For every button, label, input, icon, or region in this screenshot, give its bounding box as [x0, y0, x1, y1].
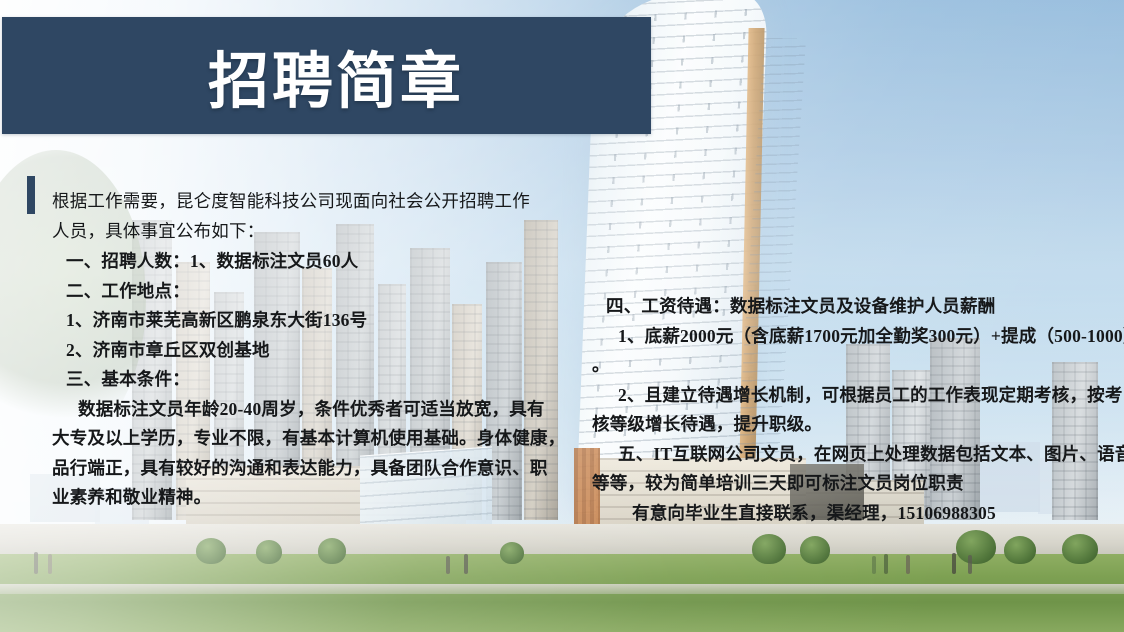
street-tree — [500, 542, 524, 564]
street-tree — [196, 538, 226, 564]
body-line: 核等级增长待遇，提升职级。 — [592, 410, 1100, 440]
body-line: 根据工作需要，昆仑度智能科技公司现面向社会公开招聘工作 — [52, 188, 557, 218]
pedestrian — [884, 554, 888, 574]
body-line: 2、且建立待遇增长机制，可根据员工的工作表现定期考核，按考 — [592, 381, 1100, 411]
pedestrian — [906, 555, 910, 574]
body-line: 1、底薪2000元（含底薪1700元加全勤奖300元）+提成（500-1000） — [592, 322, 1100, 352]
body-line: 二、工作地点： — [52, 277, 557, 307]
street-tree — [800, 536, 830, 564]
paragraph-accent-bar — [27, 176, 35, 214]
body-line: 。 — [592, 351, 1100, 381]
pedestrian — [34, 552, 38, 574]
street-tree — [256, 540, 282, 564]
body-line: 业素养和敬业精神。 — [52, 483, 557, 513]
pedestrian — [464, 554, 468, 574]
contact-line: 有意向毕业生直接联系，渠经理，15106988305 — [592, 499, 1100, 529]
body-line: 三、基本条件： — [52, 365, 557, 395]
body-line: 数据标注文员年龄20-40周岁，条件优秀者可适当放宽，具有 — [52, 395, 557, 425]
body-line: 五、IT互联网公司文员，在网页上处理数据包括文本、图片、语音 — [592, 440, 1100, 470]
body-line: 一、招聘人数：1、数据标注文员60人 — [52, 247, 557, 277]
street-tree — [318, 538, 346, 564]
pedestrian — [446, 556, 450, 574]
street-tree — [1004, 536, 1036, 564]
left-text-column: 根据工作需要，昆仑度智能科技公司现面向社会公开招聘工作 人员，具体事宜公布如下：… — [52, 188, 557, 513]
body-line: 品行端正，具有较好的沟通和表达能力，具备团队合作意识、职 — [52, 454, 557, 484]
street-tree — [752, 534, 786, 564]
right-text-column: 四、工资待遇：数据标注文员及设备维护人员薪酬 1、底薪2000元（含底薪1700… — [592, 292, 1100, 528]
body-line: 大专及以上学历，专业不限，有基本计算机使用基础。身体健康， — [52, 424, 557, 454]
pedestrian — [952, 553, 956, 574]
pedestrian — [48, 554, 52, 574]
street-tree — [1062, 534, 1098, 564]
body-line: 2、济南市章丘区双创基地 — [52, 336, 557, 366]
body-line: 人员，具体事宜公布如下： — [52, 218, 557, 248]
body-line: 1、济南市莱芜高新区鹏泉东大街136号 — [52, 306, 557, 336]
street-tree — [956, 530, 996, 564]
body-line: 等等，较为简单培训三天即可标注文员岗位职责 — [592, 469, 1100, 499]
title-banner: 招聘简章 — [2, 17, 651, 134]
page-title: 招聘简章 — [208, 31, 464, 120]
pedestrian — [872, 556, 876, 574]
recruitment-slide: 招聘简章 根据工作需要，昆仑度智能科技公司现面向社会公开招聘工作 人员，具体事宜… — [0, 0, 1124, 632]
body-line: 四、工资待遇：数据标注文员及设备维护人员薪酬 — [592, 292, 1100, 322]
pedestrian — [968, 555, 972, 574]
